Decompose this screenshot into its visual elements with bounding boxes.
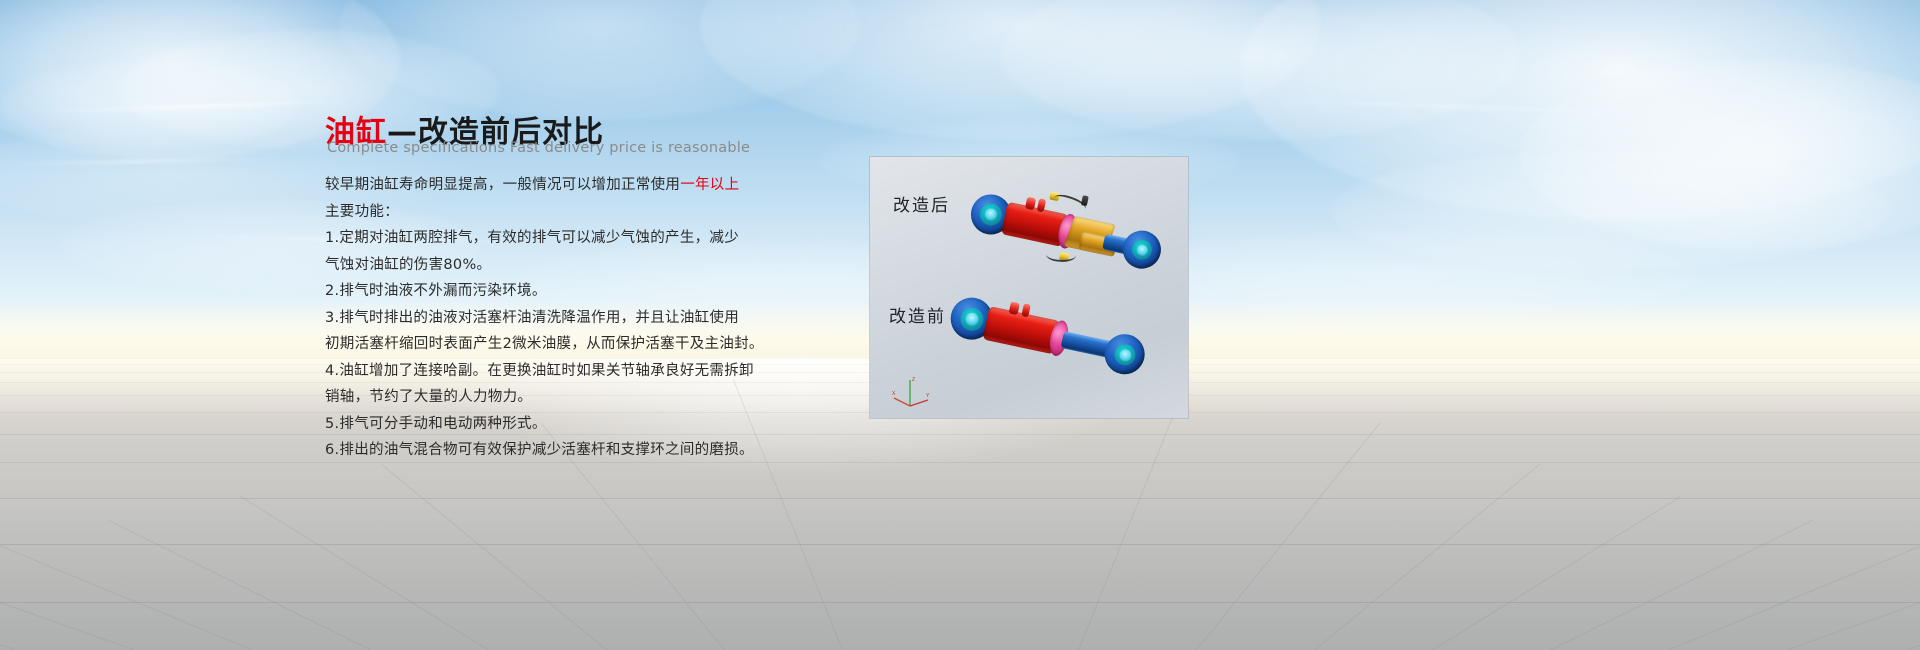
feature-description: 较早期油缸寿命明显提高，一般情况可以增加正常使用一年以上 主要功能： 1.定期对… bbox=[325, 172, 755, 464]
svg-text:Z: Z bbox=[912, 377, 915, 383]
body-line-2: 主要功能： bbox=[325, 199, 755, 226]
svg-text:Y: Y bbox=[926, 393, 930, 399]
body-line-6: 3.排气时排出的油液对活塞杆油清洗降温作用，并且让油缸使用 bbox=[325, 305, 755, 332]
body-line-10: 5.排气可分手动和电动两种形式。 bbox=[325, 411, 755, 438]
body-line-1-text: 较早期油缸寿命明显提高，一般情况可以增加正常使用 bbox=[325, 177, 680, 193]
label-before-modification: 改造前 bbox=[889, 302, 946, 327]
coordinate-axes-icon: Z X Y bbox=[892, 376, 932, 410]
hero-banner: 油缸—改造前后对比 Complete specifications Fast d… bbox=[0, 0, 1920, 650]
body-line-7: 初期活塞杆缩回时表面产生2微米油膜，从而保护活塞干及主油封。 bbox=[325, 331, 755, 358]
body-line-3: 1.定期对油缸两腔排气，有效的排气可以减少气蚀的产生，减少 bbox=[325, 225, 755, 252]
body-line-4: 气蚀对油缸的伤害80%。 bbox=[325, 252, 755, 279]
body-line-5: 2.排气时油液不外漏而污染环境。 bbox=[325, 278, 755, 305]
exhaust-hose bbox=[1046, 247, 1076, 262]
hydraulic-port bbox=[1081, 195, 1089, 206]
body-line-9: 销轴，节约了大量的人力物力。 bbox=[325, 384, 755, 411]
page-subtitle: Complete specifications Fast delivery pr… bbox=[327, 140, 750, 156]
body-line-1: 较早期油缸寿命明显提高，一般情况可以增加正常使用一年以上 bbox=[325, 172, 755, 199]
label-after-modification: 改造后 bbox=[893, 191, 950, 216]
body-line-11: 6.排出的油气混合物可有效保护减少活塞杆和支撑环之间的磨损。 bbox=[325, 437, 755, 464]
body-line-8: 4.油缸增加了连接哈副。在更换油缸时如果关节轴承良好无需拆卸 bbox=[325, 358, 755, 385]
product-comparison-panel: 改造后 改造前 bbox=[870, 157, 1188, 418]
svg-text:X: X bbox=[892, 391, 896, 397]
body-line-1-emphasis: 一年以上 bbox=[680, 177, 739, 193]
